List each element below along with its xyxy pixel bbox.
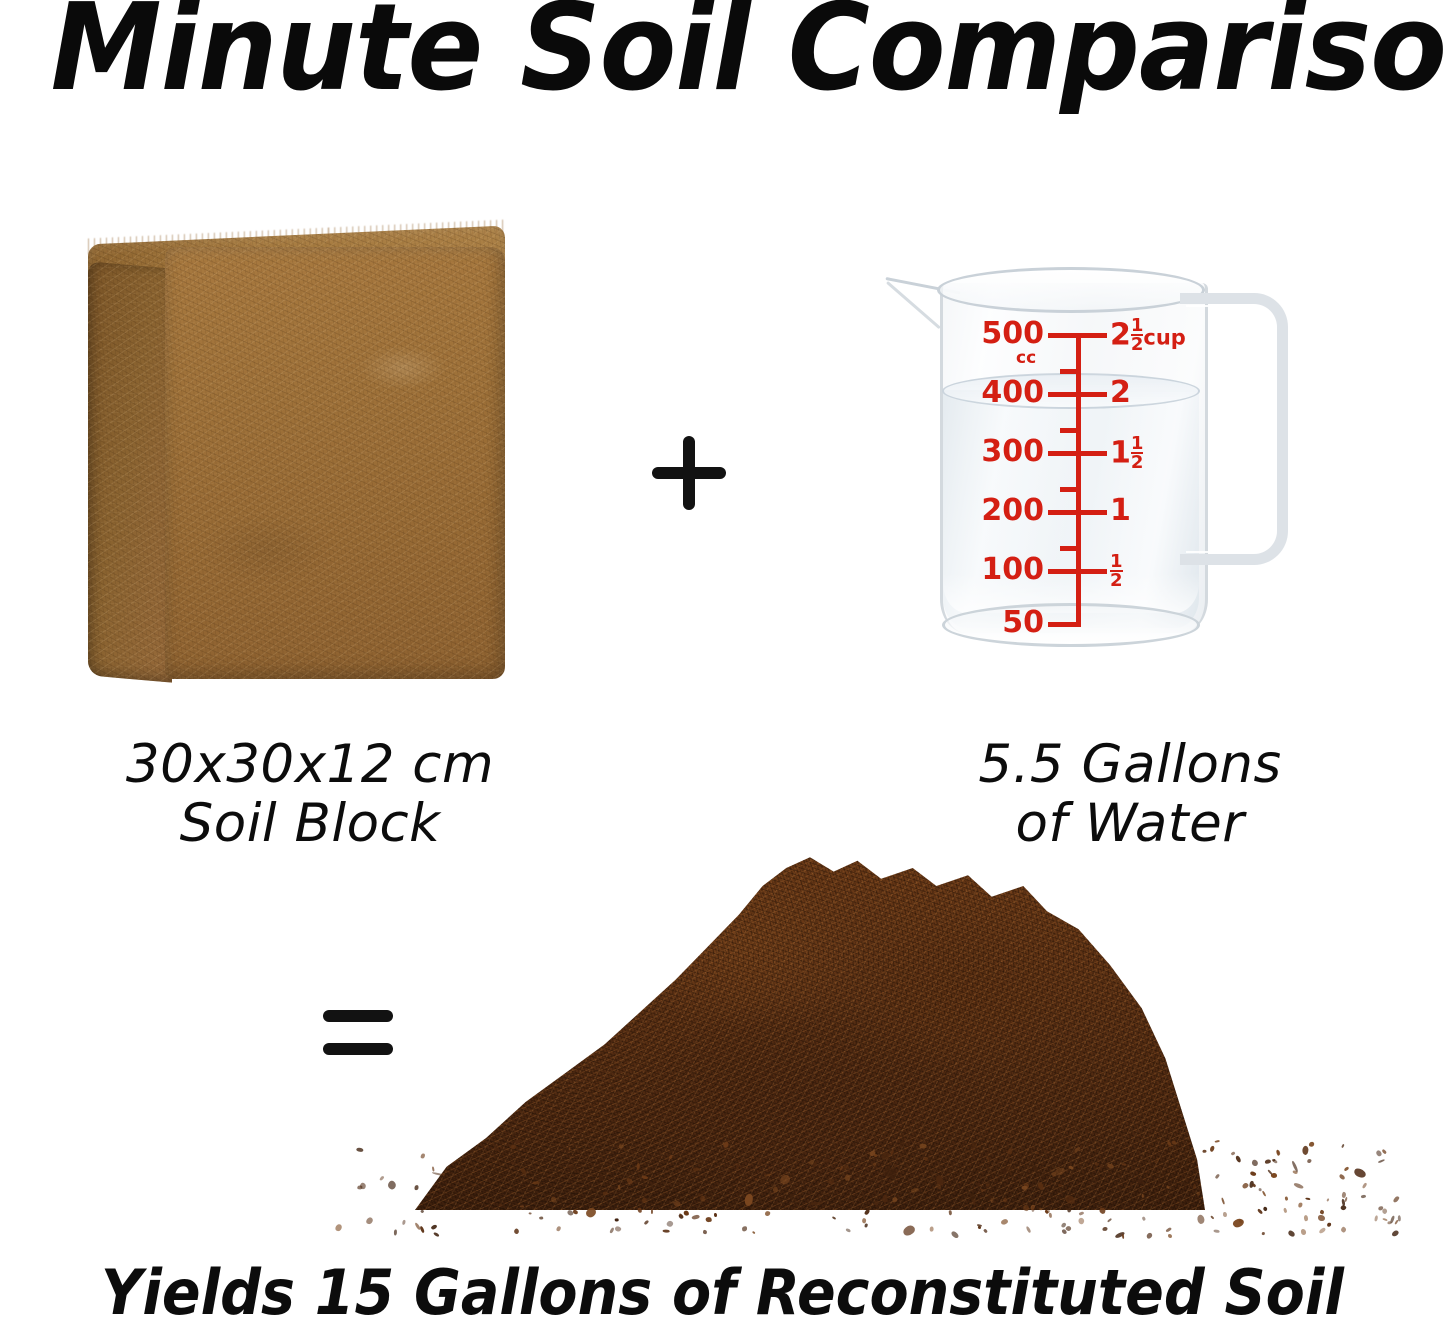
soil-crumb: [1301, 1146, 1309, 1156]
soil-crumb: [874, 1201, 879, 1206]
soil-crumb: [513, 1228, 520, 1235]
soil-crumb: [1319, 1227, 1326, 1234]
soil-block-caption: 30x30x12 cm Soil Block: [40, 735, 580, 854]
soil-crumb: [1221, 1198, 1225, 1205]
soil-crumb: [366, 1217, 374, 1225]
soil-crumb: [1103, 1226, 1109, 1231]
soil-crumb: [1165, 1227, 1171, 1233]
soil-crumb: [1077, 1217, 1086, 1225]
soil-crumb: [1106, 1218, 1111, 1223]
soil-crumb: [1291, 1160, 1299, 1172]
soil-crumb: [1168, 1234, 1173, 1238]
soil-crumb: [1214, 1174, 1219, 1179]
cup-handle-highlight: [1186, 305, 1274, 553]
soil-crumb: [1342, 1144, 1346, 1148]
soil-crumb: [684, 1210, 690, 1215]
soil-crumb: [1231, 1151, 1236, 1156]
soil-crumb: [1196, 1214, 1206, 1225]
soil-crumb: [556, 1226, 561, 1232]
soil-crumb: [702, 1229, 707, 1234]
soil-crumb: [1305, 1197, 1311, 1200]
soil-crumb: [742, 1226, 748, 1231]
soil-crumb: [432, 1167, 435, 1172]
soil-crumb: [1298, 1202, 1302, 1207]
soil-crumb: [1301, 1229, 1306, 1235]
reconstituted-soil-pile-image: [330, 840, 1430, 1260]
soil-crumb: [1145, 1233, 1152, 1240]
soil-crumb: [433, 1232, 440, 1237]
soil-crumb: [1235, 1155, 1242, 1163]
soil-crumb: [1122, 1234, 1124, 1239]
soil-crumb: [610, 1227, 615, 1233]
soil-crumb: [379, 1175, 385, 1181]
measuring-cup-image: 500 cc 400 300 200 100 50 212cup 2 112 1…: [880, 255, 1300, 655]
soil-crumb: [1391, 1229, 1399, 1237]
soil-crumb: [1214, 1230, 1220, 1233]
cup-rim: [937, 267, 1205, 313]
soil-crumb: [1210, 1215, 1215, 1220]
soil-crumb: [1141, 1216, 1145, 1220]
plus-operator-icon: [652, 436, 726, 510]
soil-crumb: [1209, 1145, 1215, 1152]
soil-block-side-face: [88, 261, 172, 682]
soil-crumb: [706, 1217, 712, 1223]
soil-crumb: [1287, 1229, 1295, 1237]
soil-crumb: [929, 1226, 934, 1232]
soil-crumb: [692, 1214, 700, 1220]
soil-crumb: [1344, 1166, 1350, 1171]
soil-crumb: [421, 1210, 425, 1214]
soil-crumb: [637, 1208, 641, 1213]
soil-crumb: [1360, 1195, 1365, 1199]
soil-crumb: [1251, 1159, 1259, 1166]
soil-crumb: [1378, 1159, 1386, 1164]
soil-block-image: [60, 225, 520, 705]
soil-crumb: [1338, 1174, 1346, 1181]
soil-crumb: [1392, 1196, 1399, 1204]
soil-crumb: [414, 1186, 418, 1191]
soil-crumb: [1397, 1215, 1400, 1221]
soil-crumb: [1098, 1208, 1106, 1215]
soil-crumb: [1215, 1140, 1220, 1143]
soil-crumb: [636, 1163, 639, 1170]
soil-crumb: [1264, 1159, 1270, 1163]
soil-crumb: [644, 1220, 649, 1226]
soil-crumb: [949, 1210, 953, 1215]
soil-crumb: [356, 1146, 364, 1152]
soil-crumb: [615, 1218, 619, 1222]
cup-base: [942, 603, 1200, 647]
plus-vertical-bar: [683, 436, 695, 510]
soil-crumb: [1326, 1198, 1329, 1202]
soil-block-front-face: [165, 247, 505, 679]
cup-water-surface: [942, 373, 1200, 409]
soil-crumb: [1374, 1215, 1377, 1221]
soil-crumb: [1327, 1222, 1331, 1226]
soil-crumb: [564, 1146, 569, 1151]
soil-crumb: [1202, 1149, 1207, 1153]
soil-crumb: [420, 1153, 425, 1159]
soil-crumb: [1079, 1211, 1085, 1216]
yield-caption: Yields 15 Gallons of Reconstituted Soil: [58, 1258, 1387, 1327]
soil-crumb: [951, 1231, 959, 1240]
page-title: Minute Soil Comparison: [51, 0, 1395, 116]
soil-crumb: [1262, 1231, 1266, 1234]
soil-crumb: [615, 1226, 622, 1233]
soil-crumb: [1318, 1214, 1325, 1220]
soil-mound: [415, 850, 1205, 1210]
soil-crumb: [924, 1157, 927, 1161]
soil-crumb: [1002, 1168, 1007, 1174]
soil-crumb: [1262, 1190, 1266, 1196]
soil-crumb: [752, 1231, 756, 1235]
soil-crumb: [1303, 1214, 1309, 1221]
soil-crumb: [1023, 1205, 1030, 1212]
soil-crumb: [831, 1216, 836, 1220]
soil-crumb: [1026, 1225, 1032, 1233]
soil-crumb: [901, 1223, 916, 1238]
soil-crumb: [968, 1193, 975, 1201]
soil-crumb: [538, 1217, 543, 1220]
water-caption: 5.5 Gallons of Water: [905, 735, 1355, 854]
soil-crumb: [1262, 1207, 1267, 1212]
soil-crumb: [430, 1223, 437, 1230]
soil-crumb: [1285, 1196, 1289, 1201]
soil-crumb: [983, 1229, 988, 1234]
soil-crumb: [714, 1213, 717, 1217]
infographic-canvas: Minute Soil Comparison: [0, 0, 1445, 1328]
soil-crumb: [1293, 1182, 1303, 1189]
soil-crumb: [864, 1223, 868, 1228]
soil-crumb: [1362, 1183, 1367, 1189]
soil-crumb: [335, 1224, 342, 1232]
soil-crumb: [1308, 1141, 1314, 1147]
soil-crumb: [1250, 1171, 1257, 1178]
soil-crumb: [1031, 1205, 1035, 1212]
soil-crumb: [892, 1196, 898, 1202]
soil-crumb: [663, 1230, 670, 1233]
soil-crumb: [1000, 1218, 1009, 1226]
soil-crumb: [1232, 1217, 1246, 1230]
soil-crumb: [387, 1179, 398, 1190]
soil-crumb: [765, 1210, 771, 1216]
soil-crumb: [528, 1212, 531, 1215]
soil-crumb: [1340, 1204, 1347, 1211]
soil-crumb: [1222, 1212, 1227, 1217]
soil-crumb: [1284, 1208, 1289, 1213]
soil-crumb: [1041, 1172, 1044, 1178]
soil-crumb: [1049, 1213, 1052, 1218]
soil-crumb: [1306, 1159, 1311, 1164]
soil-crumb: [1382, 1218, 1387, 1222]
soil-crumb: [1381, 1149, 1387, 1155]
soil-crumb: [1067, 1207, 1071, 1212]
soil-crumb: [666, 1220, 674, 1228]
soil-crumb: [1340, 1226, 1347, 1233]
soil-crumb: [1271, 1158, 1277, 1164]
soil-crumb: [846, 1228, 851, 1232]
soil-crumb: [414, 1223, 421, 1231]
soil-crumb: [1353, 1167, 1366, 1178]
soil-crumb: [401, 1219, 405, 1225]
soil-crumb: [978, 1226, 982, 1230]
soil-crumb: [394, 1229, 398, 1235]
soil-crumb: [1171, 1140, 1176, 1144]
